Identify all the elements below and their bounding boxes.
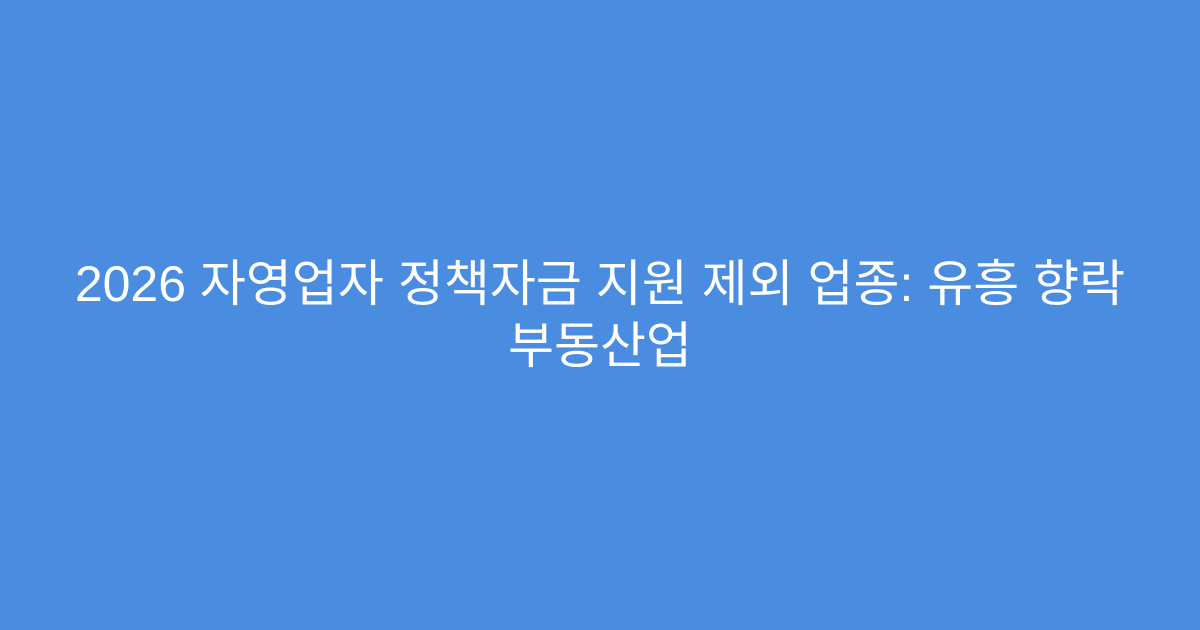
banner-title: 2026 자영업자 정책자금 지원 제외 업종: 유흥 향락 부동산업: [50, 253, 1150, 377]
banner-content: 2026 자영업자 정책자금 지원 제외 업종: 유흥 향락 부동산업: [50, 253, 1150, 377]
banner-card: 2026 자영업자 정책자금 지원 제외 업종: 유흥 향락 부동산업: [0, 0, 1200, 630]
